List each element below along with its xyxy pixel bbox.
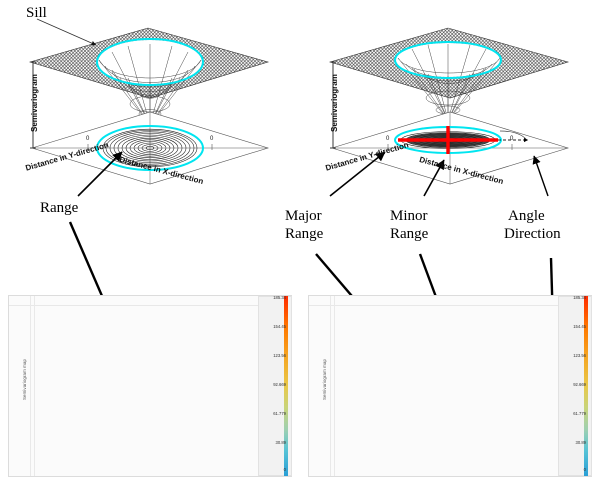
colorbar-r-tick-6: 0 [584, 467, 586, 472]
colorbar-tick-0: 185.34 [273, 295, 286, 300]
minor-range-label-line1: Minor [390, 208, 428, 224]
map-left-side-label: Semivariogram map [22, 359, 27, 400]
colorbar-tick-6: 0 [284, 467, 286, 472]
colorbar-tick-5: 30.89 [276, 440, 286, 445]
colorbar-r-tick-2: 123.56 [573, 353, 586, 358]
base-plane-right [332, 112, 568, 184]
colorbar-left: 185.34 154.45 123.56 92.669 61.779 30.89… [258, 296, 292, 476]
colorbar-tick-3: 92.669 [273, 382, 286, 387]
x-tick-right: 0 [510, 136, 513, 142]
sill-label: Sill [26, 6, 47, 21]
colorbar-r-tick-4: 61.779 [573, 411, 586, 416]
colorbar-r-tick-0: 185.34 [573, 295, 586, 300]
y-tick-right: 0 [386, 136, 389, 142]
colorbar-tick-4: 61.779 [273, 411, 286, 416]
angle-direction-label-line1: Angle [508, 208, 545, 224]
colorbar-r-tick-5: 30.89 [576, 440, 586, 445]
colorbar-r-tick-1: 154.45 [573, 324, 586, 329]
map-right-side-label: Semivariogram map [322, 359, 327, 400]
sill-leader-left [37, 19, 96, 45]
colorbar-tick-2: 123.56 [273, 353, 286, 358]
base-plane-left [32, 112, 268, 184]
x-tick-left: 0 [210, 136, 213, 142]
y-axis-label-left: Semivariogram [30, 74, 39, 132]
minor-range-label-line2: Range [390, 226, 428, 242]
sill-surface-right [330, 28, 568, 120]
angle-direction-label-line2: Direction [504, 226, 561, 242]
major-range-label-line2: Range [285, 226, 323, 242]
colorbar-r-tick-3: 92.669 [573, 382, 586, 387]
range-label: Range [40, 201, 78, 216]
colorbar-tick-1: 154.45 [273, 324, 286, 329]
y-axis-label-right: Semivariogram [330, 74, 339, 132]
major-range-label-line1: Major [285, 208, 322, 224]
angle-direction-leader-up [534, 156, 548, 196]
map-panel-right [308, 295, 592, 477]
colorbar-right: 185.34 154.45 123.56 92.669 61.779 30.89… [558, 296, 592, 476]
sill-surface-left [30, 28, 268, 125]
map-panel-left [8, 295, 292, 477]
y-tick-left: 0 [86, 136, 89, 142]
figure-root: Semivariogram Distance in X-direction Di… [0, 0, 600, 483]
